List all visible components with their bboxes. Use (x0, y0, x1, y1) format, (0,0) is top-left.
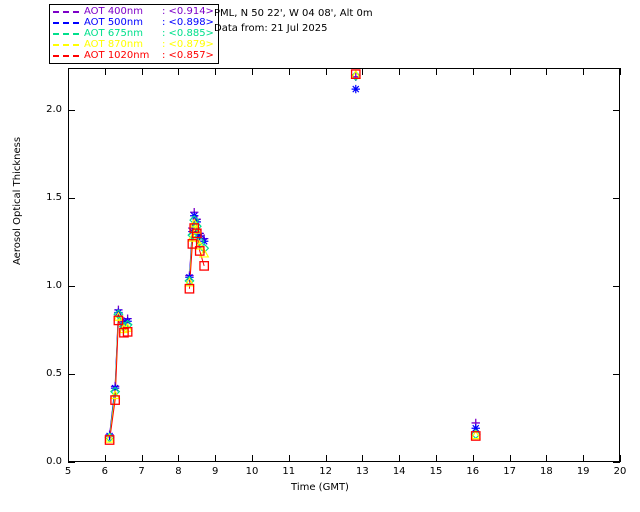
x-tick-label: 16 (458, 466, 488, 477)
legend-line-swatch-icon (53, 22, 79, 24)
legend-line-swatch-icon (53, 11, 79, 13)
legend-line-swatch-icon (53, 55, 79, 57)
y-tick-label: 2.0 (28, 104, 62, 115)
legend-text: AOT 400nm: <0.914> (84, 6, 214, 17)
legend-text: AOT 500nm: <0.898> (84, 17, 214, 28)
legend-item: AOT 870nm: <0.879> (53, 39, 214, 50)
legend-series-label: AOT 500nm (84, 17, 162, 28)
legend-series-label: AOT 1020nm (84, 50, 162, 61)
legend-text: AOT 675nm: <0.885> (84, 28, 214, 39)
y-tick-label: 1.5 (28, 192, 62, 203)
legend-series-mean: : <0.879> (162, 39, 214, 50)
legend-series-mean: : <0.914> (162, 6, 214, 17)
legend-text: AOT 870nm: <0.879> (84, 39, 214, 50)
x-tick-label: 17 (495, 466, 525, 477)
plot-frame (68, 68, 620, 462)
legend-series-label: AOT 400nm (84, 6, 162, 17)
y-tick-label: 1.0 (28, 280, 62, 291)
y-tick-label: 0.0 (28, 456, 62, 467)
chart-root: AOT 400nm: <0.914>AOT 500nm: <0.898>AOT … (0, 0, 640, 512)
legend-series-mean: : <0.885> (162, 28, 214, 39)
y-tick-label: 0.5 (28, 368, 62, 379)
legend: AOT 400nm: <0.914>AOT 500nm: <0.898>AOT … (49, 4, 219, 64)
x-tick-label: 7 (127, 466, 157, 477)
legend-series-mean: : <0.898> (162, 17, 214, 28)
station-line: PML, N 50 22', W 04 08', Alt 0m (214, 6, 373, 21)
x-tick-label: 11 (274, 466, 304, 477)
x-tick-top (620, 68, 621, 75)
legend-text: AOT 1020nm: <0.857> (84, 50, 214, 61)
legend-series-mean: : <0.857> (162, 50, 214, 61)
x-tick-label: 20 (605, 466, 635, 477)
y-axis-label: Aerosol Optical Thickness (12, 137, 23, 265)
legend-line-swatch-icon (53, 33, 79, 35)
x-tick-label: 19 (568, 466, 598, 477)
legend-series-label: AOT 675nm (84, 28, 162, 39)
legend-series-label: AOT 870nm (84, 39, 162, 50)
legend-rows: AOT 400nm: <0.914>AOT 500nm: <0.898>AOT … (53, 6, 214, 61)
date-line: Data from: 21 Jul 2025 (214, 21, 373, 36)
x-tick-label: 15 (421, 466, 451, 477)
legend-item: AOT 500nm: <0.898> (53, 17, 214, 28)
x-axis-label: Time (GMT) (0, 482, 640, 493)
x-tick-label: 6 (90, 466, 120, 477)
header-annotation: PML, N 50 22', W 04 08', Alt 0m Data fro… (214, 6, 373, 36)
x-tick-label: 5 (53, 466, 83, 477)
x-tick-label: 13 (347, 466, 377, 477)
y-tick-right (613, 462, 620, 463)
x-tick-label: 10 (237, 466, 267, 477)
legend-item: AOT 400nm: <0.914> (53, 6, 214, 17)
legend-item: AOT 675nm: <0.885> (53, 28, 214, 39)
legend-item: AOT 1020nm: <0.857> (53, 50, 214, 61)
x-tick (620, 455, 621, 462)
x-tick-label: 8 (163, 466, 193, 477)
x-tick-label: 14 (384, 466, 414, 477)
x-tick-label: 12 (311, 466, 341, 477)
y-tick (68, 462, 75, 463)
legend-line-swatch-icon (53, 44, 79, 46)
x-tick-label: 18 (531, 466, 561, 477)
x-tick-label: 9 (200, 466, 230, 477)
